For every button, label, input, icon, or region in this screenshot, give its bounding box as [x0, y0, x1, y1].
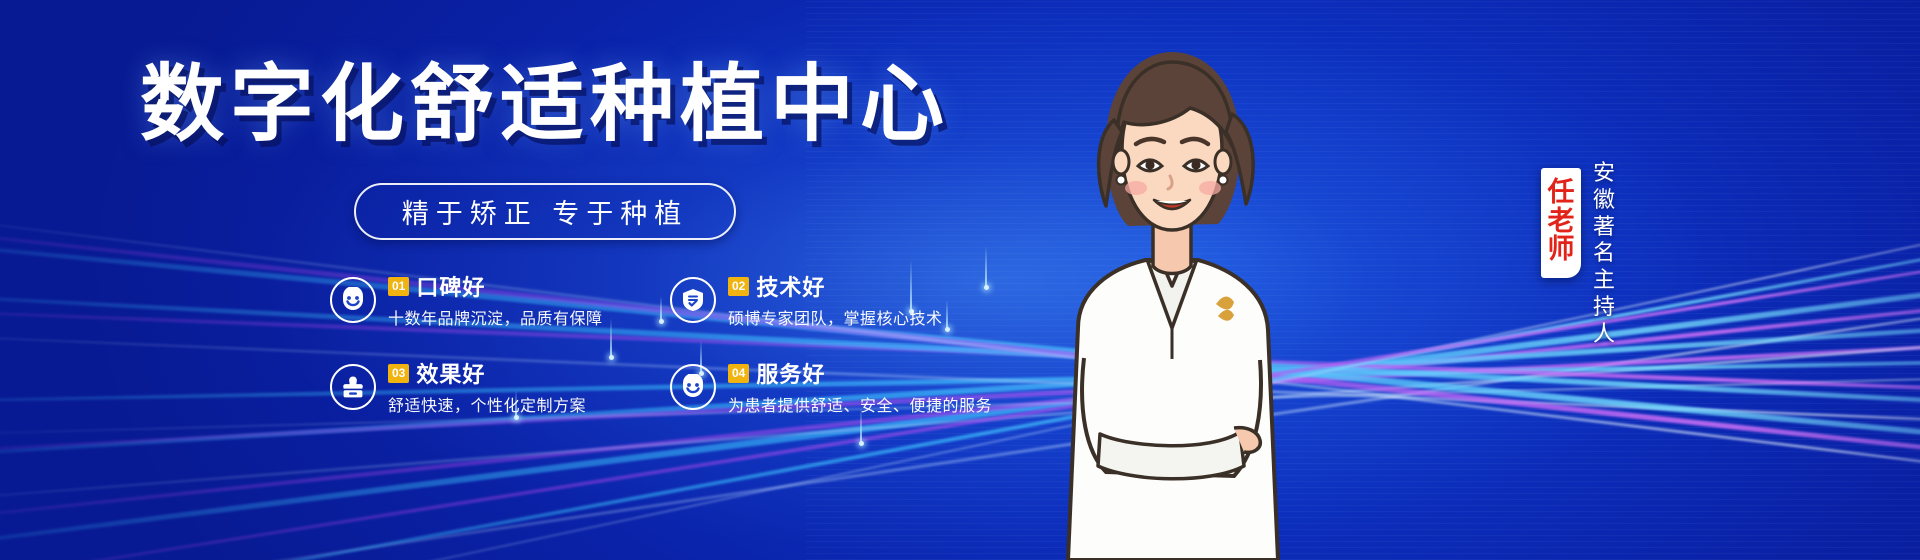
credential-char: 持: [1588, 294, 1622, 321]
feature-item[interactable]: 03 效果好 舒适快速，个性化定制方案: [330, 357, 670, 416]
feature-grid: 01 口碑好 十数年品牌沉淀，品质有保障: [330, 270, 1030, 416]
feature-number: 02: [728, 277, 749, 296]
credential-char: 安: [1588, 160, 1622, 187]
credential-char: 名: [1588, 240, 1622, 267]
feature-desc: 硕博专家团队，掌握核心技术: [728, 305, 943, 329]
feature-title: 口碑好: [416, 270, 485, 302]
feature-desc: 舒适快速，个性化定制方案: [388, 392, 586, 416]
feature-number: 04: [728, 364, 749, 383]
doctor-illustration: [1020, 28, 1320, 560]
feature-title: 服务好: [756, 357, 825, 389]
spokesperson-name-char: 任: [1545, 178, 1577, 207]
spokesperson-name-char: 老: [1545, 207, 1577, 236]
credential-char: 主: [1588, 267, 1622, 294]
feature-item[interactable]: 04 服务好 为患者提供舒适、安全、便捷的服务: [670, 357, 1010, 416]
feature-number: 01: [388, 277, 409, 296]
shield-check-icon: [670, 277, 716, 323]
feature-desc: 为患者提供舒适、安全、便捷的服务: [728, 392, 992, 416]
spokesperson-name-char: 师: [1545, 235, 1577, 264]
smile-face-icon: [330, 277, 376, 323]
feature-number: 03: [388, 364, 409, 383]
feature-item[interactable]: 02 技术好 硕博专家团队，掌握核心技术: [670, 270, 1010, 329]
headline-block: 数字化舒适种植中心 精于矫正 专于种植: [0, 0, 1090, 560]
spokesperson-credential: 安 徽 著 名 主 持 人: [1588, 160, 1622, 348]
feature-desc: 十数年品牌沉淀，品质有保障: [388, 305, 603, 329]
thumbs-up-icon: [330, 364, 376, 410]
promo-banner: 数字化舒适种植中心 精于矫正 专于种植: [0, 0, 1920, 560]
credential-char: 著: [1588, 214, 1622, 241]
credential-char: 人: [1588, 321, 1622, 348]
spokesperson-name-tag: 任老师: [1541, 168, 1581, 278]
page-title: 数字化舒适种植中心: [0, 62, 1090, 146]
subtitle-pill: 精于矫正 专于种植: [354, 183, 737, 240]
feature-title: 效果好: [416, 357, 485, 389]
smile-face-icon: [670, 364, 716, 410]
credential-char: 徽: [1588, 187, 1622, 214]
feature-title: 技术好: [756, 270, 825, 302]
feature-item[interactable]: 01 口碑好 十数年品牌沉淀，品质有保障: [330, 270, 670, 329]
